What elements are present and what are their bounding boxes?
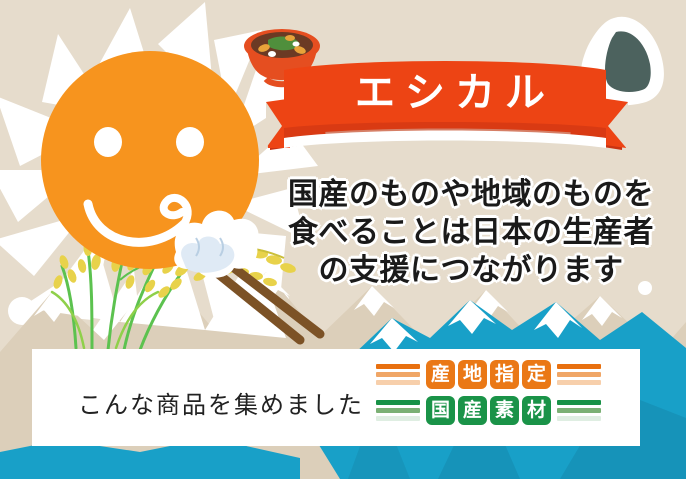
- badge-chars-green: 国 産 素 材: [426, 396, 551, 425]
- badge-bars-right-green: [557, 400, 601, 421]
- badge-kokusan-sozai: 国 産 素 材: [376, 396, 601, 425]
- headline-line-2: 食べることは日本の生産者: [262, 214, 680, 252]
- headline-line-3: の支援につながります: [262, 252, 680, 290]
- badge-bars-left-green: [376, 400, 420, 421]
- headline-text: 国産のものや地域のものを 食べることは日本の生産者 の支援につながります: [262, 176, 680, 290]
- badge-group: 産 地 指 定 国 産 素 材: [376, 360, 601, 425]
- collect-label: こんな商品を集めました: [78, 385, 364, 420]
- ethical-promo-banner: エシカル 国産のものや地域のものを 食べることは日本の生産者 の支援につながりま…: [0, 0, 686, 479]
- badge-char: 産: [426, 360, 455, 389]
- badge-char: 地: [458, 360, 487, 389]
- badge-char: 国: [426, 396, 455, 425]
- ribbon-label: エシカル: [280, 62, 620, 124]
- ribbon-banner: エシカル: [280, 62, 620, 144]
- badge-bars-right-orange: [557, 364, 601, 385]
- badge-char: 定: [522, 360, 551, 389]
- sun-eye-left: [94, 127, 122, 157]
- headline-line-1: 国産のものや地域のものを: [262, 176, 680, 214]
- badge-sanchi-shitei: 産 地 指 定: [376, 360, 601, 389]
- badge-char: 指: [490, 360, 519, 389]
- badge-bars-left-orange: [376, 364, 420, 385]
- badge-char: 素: [490, 396, 519, 425]
- badge-char: 産: [458, 396, 487, 425]
- badge-chars-orange: 産 地 指 定: [426, 360, 551, 389]
- badge-char: 材: [522, 396, 551, 425]
- sun-eye-right: [176, 127, 204, 157]
